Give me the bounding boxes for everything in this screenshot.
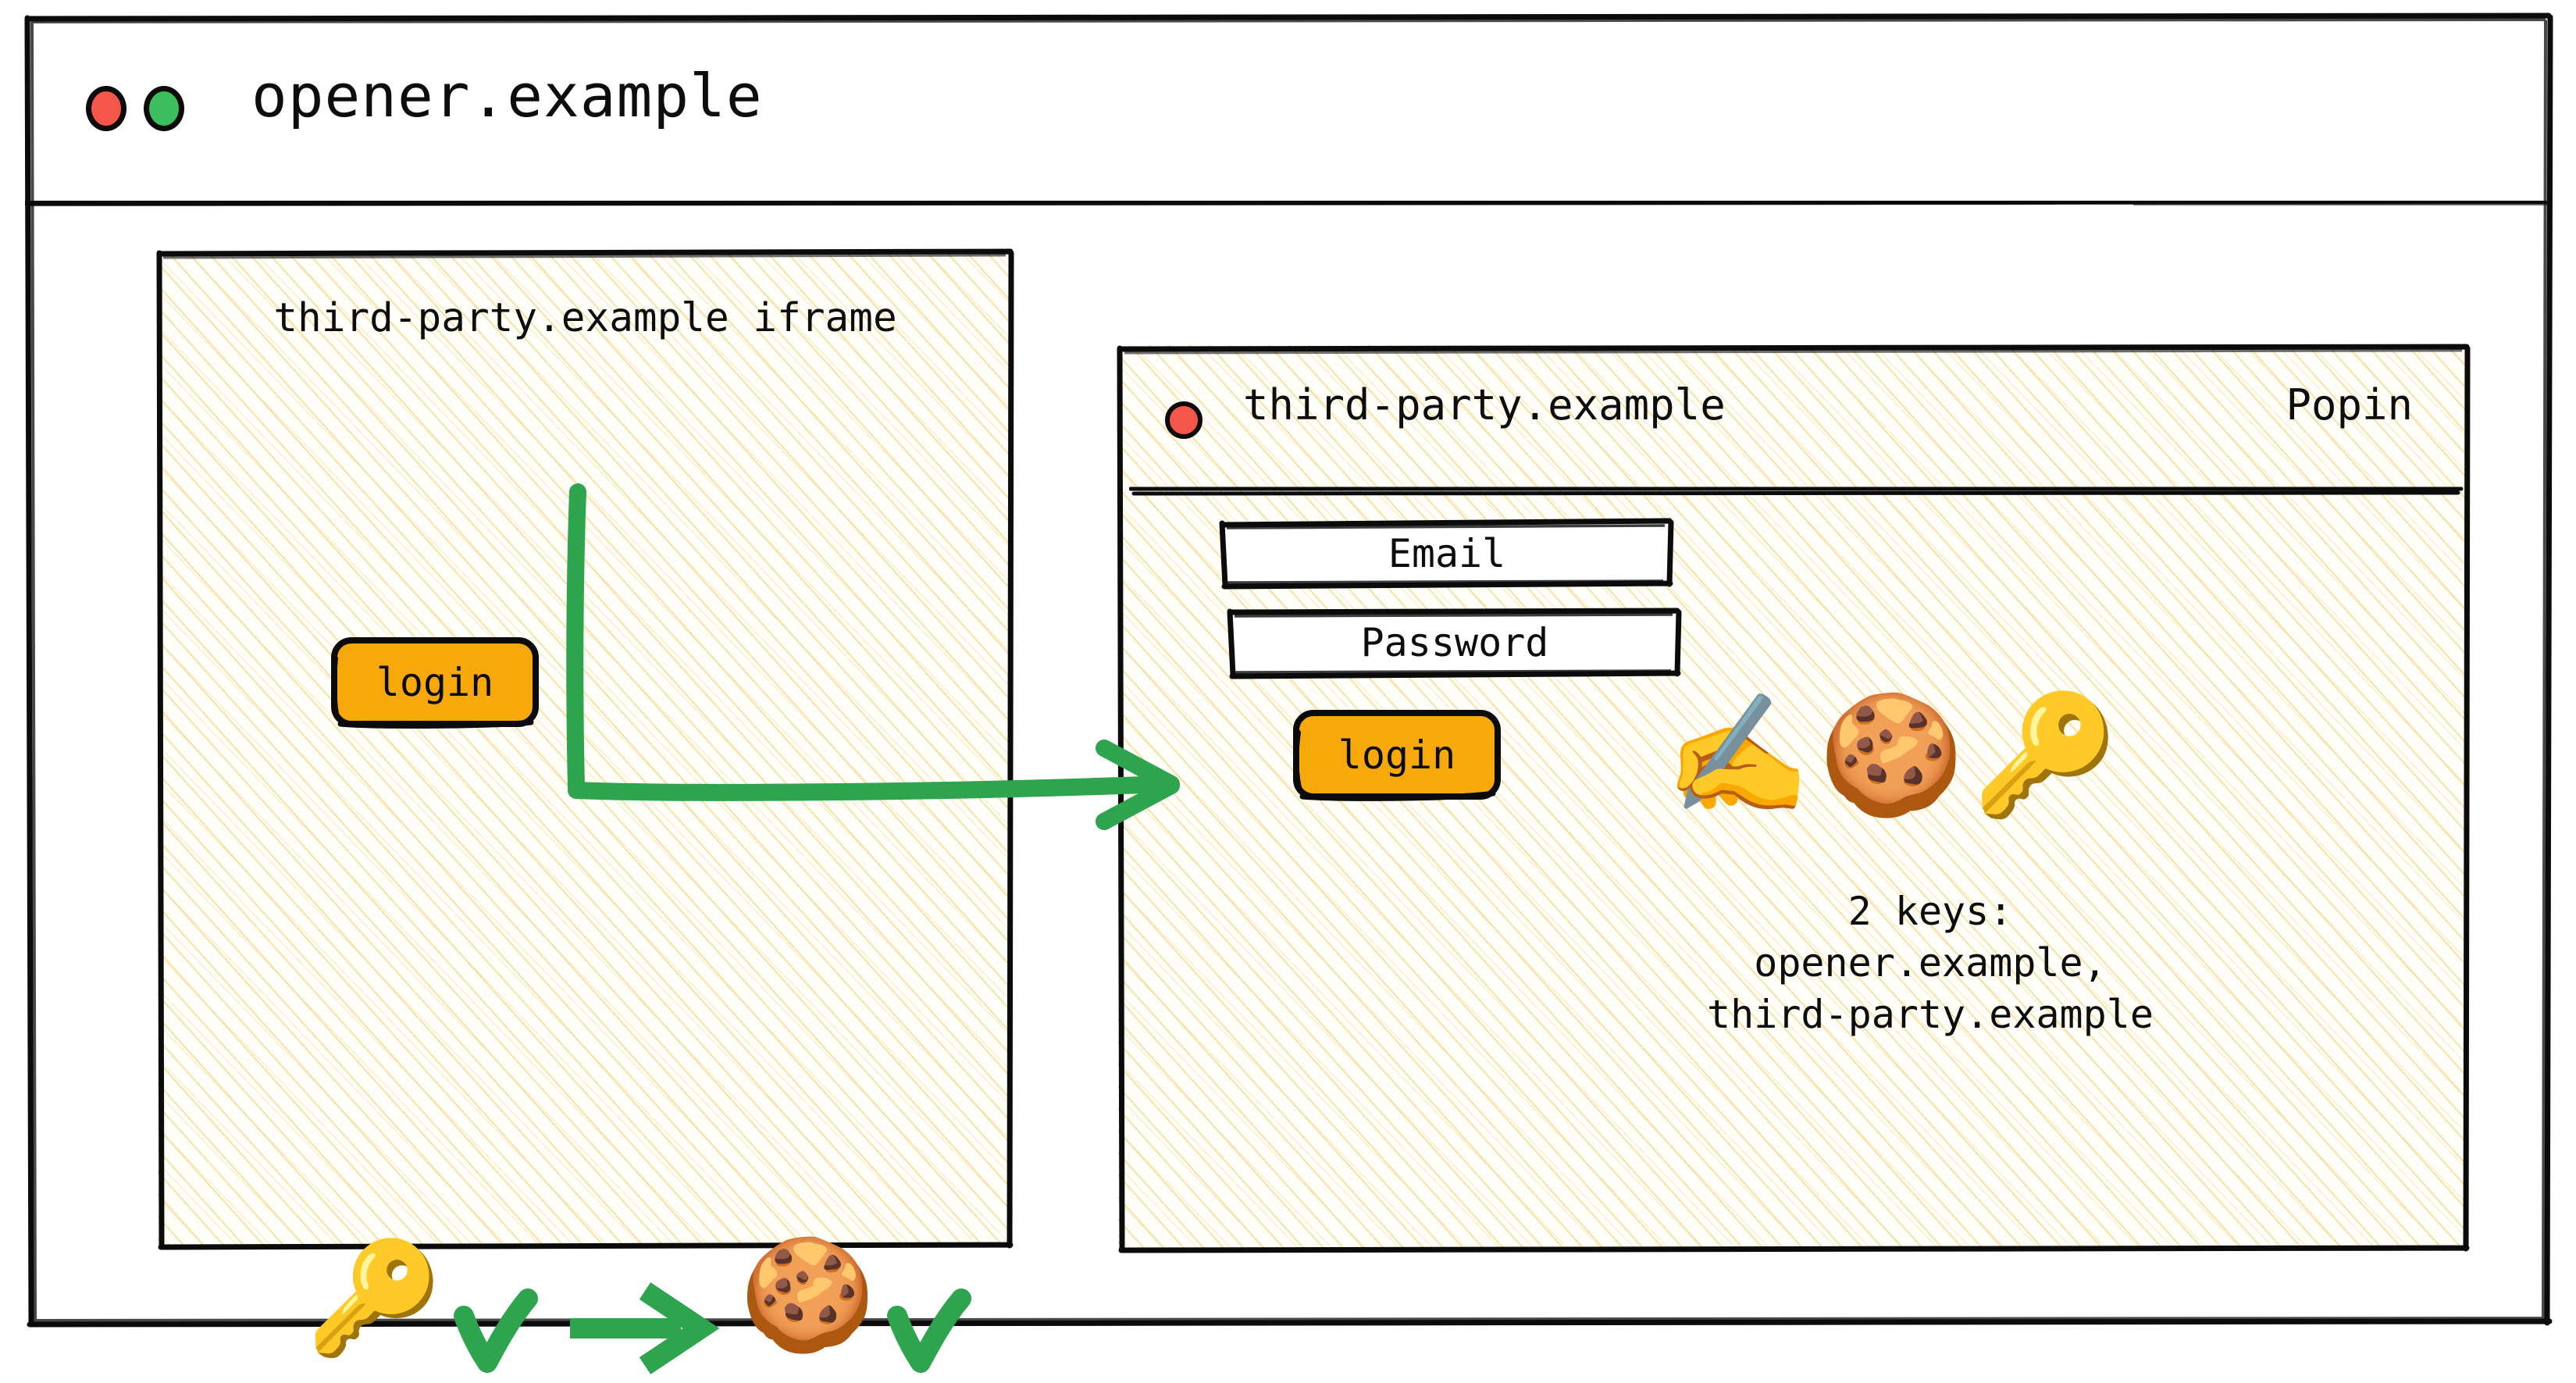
iframe-login-button[interactable]: login — [330, 636, 540, 729]
title-bar: opener.example — [25, 14, 2552, 195]
check-icon — [880, 1281, 982, 1383]
iframe-title: third-party.example iframe — [158, 295, 1013, 341]
close-icon[interactable] — [86, 86, 126, 131]
arrow-right-icon — [564, 1281, 720, 1375]
popin-type-label: Popin — [2286, 380, 2413, 430]
key-icon: 🔑 — [306, 1244, 442, 1353]
keys-caption-line: third-party.example — [1579, 989, 2282, 1040]
email-field-label: Email — [1388, 531, 1506, 576]
cookie-icon: 🍪 — [739, 1241, 875, 1350]
keys-caption: 2 keys: opener.example, third-party.exam… — [1579, 886, 2282, 1040]
signin-cookie-key-icons: ✍️🍪🔑 — [1665, 697, 2125, 814]
browser-window: opener.example third-party.example ifram… — [25, 14, 2552, 1326]
keys-caption-line: 2 keys: — [1579, 886, 2282, 937]
popin-header-divider — [1129, 484, 2464, 492]
close-icon[interactable] — [1165, 401, 1202, 439]
popin-login-button[interactable]: login — [1292, 709, 1502, 801]
password-field-label: Password — [1361, 620, 1549, 665]
maximize-icon[interactable] — [144, 86, 184, 131]
page-title: opener.example — [251, 61, 763, 130]
password-field[interactable]: Password — [1227, 608, 1682, 678]
title-bar-divider — [25, 195, 2552, 200]
popin-window: third-party.example Popin Email — [1118, 345, 2469, 1251]
keys-caption-line: opener.example, — [1579, 937, 2282, 989]
iframe-login-button-label: login — [376, 660, 494, 705]
check-icon — [447, 1281, 548, 1383]
third-party-iframe-panel: third-party.example iframe login 🔑 — [158, 251, 1013, 1248]
popin-header: third-party.example Popin — [1118, 345, 2469, 487]
popin-origin-label: third-party.example — [1243, 380, 1726, 430]
email-field[interactable]: Email — [1220, 519, 1674, 589]
iframe-panel-border — [158, 251, 1013, 1248]
popin-login-button-label: login — [1338, 732, 1456, 778]
